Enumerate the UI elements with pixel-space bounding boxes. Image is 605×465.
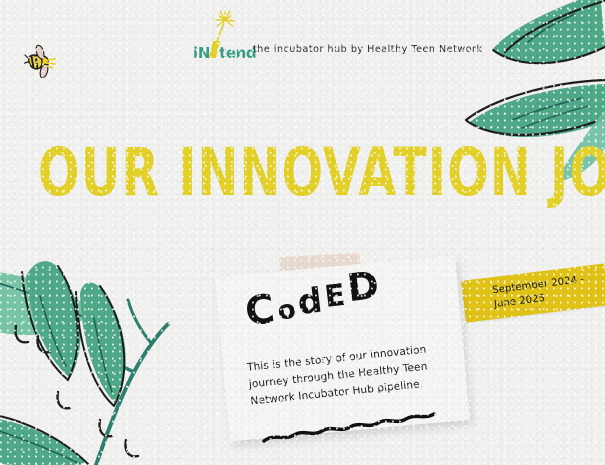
logo-text-tend: tend: [219, 46, 256, 61]
logo-mark: iN tend: [193, 41, 256, 61]
logo-tagline: the incubator hub by Healthy Teen Networ…: [253, 44, 483, 55]
leaf-icon-left-mid: [0, 272, 94, 335]
brand-logo[interactable]: iN tend the incubator hub by Healthy Tee…: [193, 33, 483, 67]
bee-icon: [25, 44, 56, 78]
logo-text-in: iN: [193, 46, 210, 61]
date-range-text: September 2024 - June 2025: [492, 271, 605, 311]
card-title-letter-1: C: [243, 286, 281, 335]
card-body: This is the story of our innovation jour…: [246, 340, 450, 411]
slide-canvas: iN tend the incubator hub by Healthy Tee…: [0, 0, 605, 465]
card-title-letter-3: d: [296, 280, 328, 323]
date-range-tag: September 2024 - June 2025: [461, 263, 605, 322]
leaf-branch-icon-bottom-left: [0, 261, 168, 465]
page-title: OUR INNOVATION JOURNEY: [38, 146, 605, 200]
card-title: CodED: [243, 276, 385, 332]
card-title-letter-5: D: [345, 262, 384, 310]
note-card: CodED This is the story of our innovatio…: [215, 255, 469, 441]
